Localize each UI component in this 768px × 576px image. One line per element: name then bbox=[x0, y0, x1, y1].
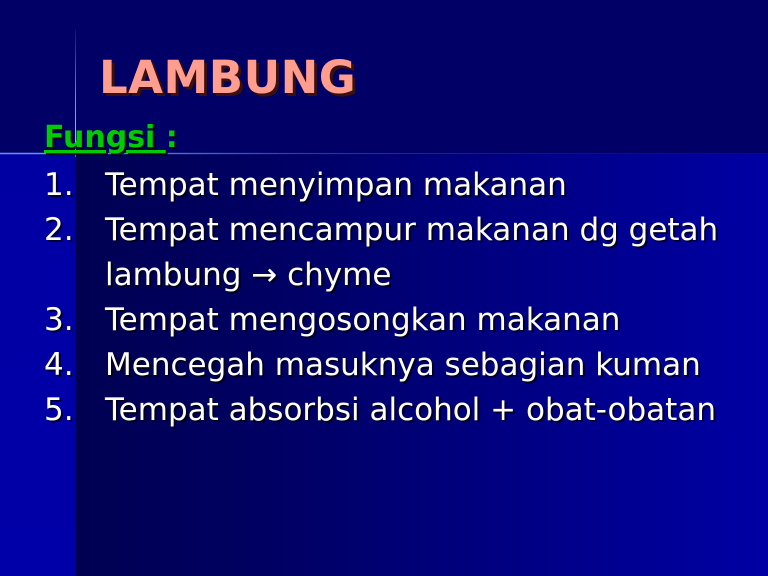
list-item-text: Tempat absorbsi alcohol + obat-obatan bbox=[105, 388, 768, 433]
section-heading: Fungsi : bbox=[44, 122, 178, 154]
list-item-marker: 2. bbox=[44, 208, 105, 253]
function-list: 1.Tempat menyimpan makanan2.Tempat menca… bbox=[44, 163, 768, 433]
list-item-text: Mencegah masuknya sebagian kuman bbox=[105, 343, 768, 388]
list-item-marker: 1. bbox=[44, 163, 105, 208]
list-item-marker: 3. bbox=[44, 298, 105, 343]
list-item: 4.Mencegah masuknya sebagian kuman bbox=[44, 343, 768, 388]
list-item: 2.Tempat mencampur makanan dg getah bbox=[44, 208, 768, 253]
list-item: 3.Tempat mengosongkan makanan bbox=[44, 298, 768, 343]
slide-title: LAMBUNG bbox=[99, 55, 356, 100]
section-heading-label: Fungsi bbox=[44, 120, 166, 155]
list-item-marker: 4. bbox=[44, 343, 105, 388]
list-item: 1.Tempat menyimpan makanan bbox=[44, 163, 768, 208]
section-heading-colon: : bbox=[166, 120, 178, 155]
list-item-text: lambung → chyme bbox=[105, 253, 768, 298]
slide-canvas: LAMBUNG Fungsi : 1.Tempat menyimpan maka… bbox=[0, 0, 768, 576]
list-item: 5.Tempat absorbsi alcohol + obat-obatan bbox=[44, 388, 768, 433]
list-item-text: Tempat mencampur makanan dg getah bbox=[105, 208, 768, 253]
list-item-marker: 5. bbox=[44, 388, 105, 433]
list-item-text: Tempat menyimpan makanan bbox=[105, 163, 768, 208]
list-item-text: Tempat mengosongkan makanan bbox=[105, 298, 768, 343]
list-item: lambung → chyme bbox=[44, 253, 768, 298]
